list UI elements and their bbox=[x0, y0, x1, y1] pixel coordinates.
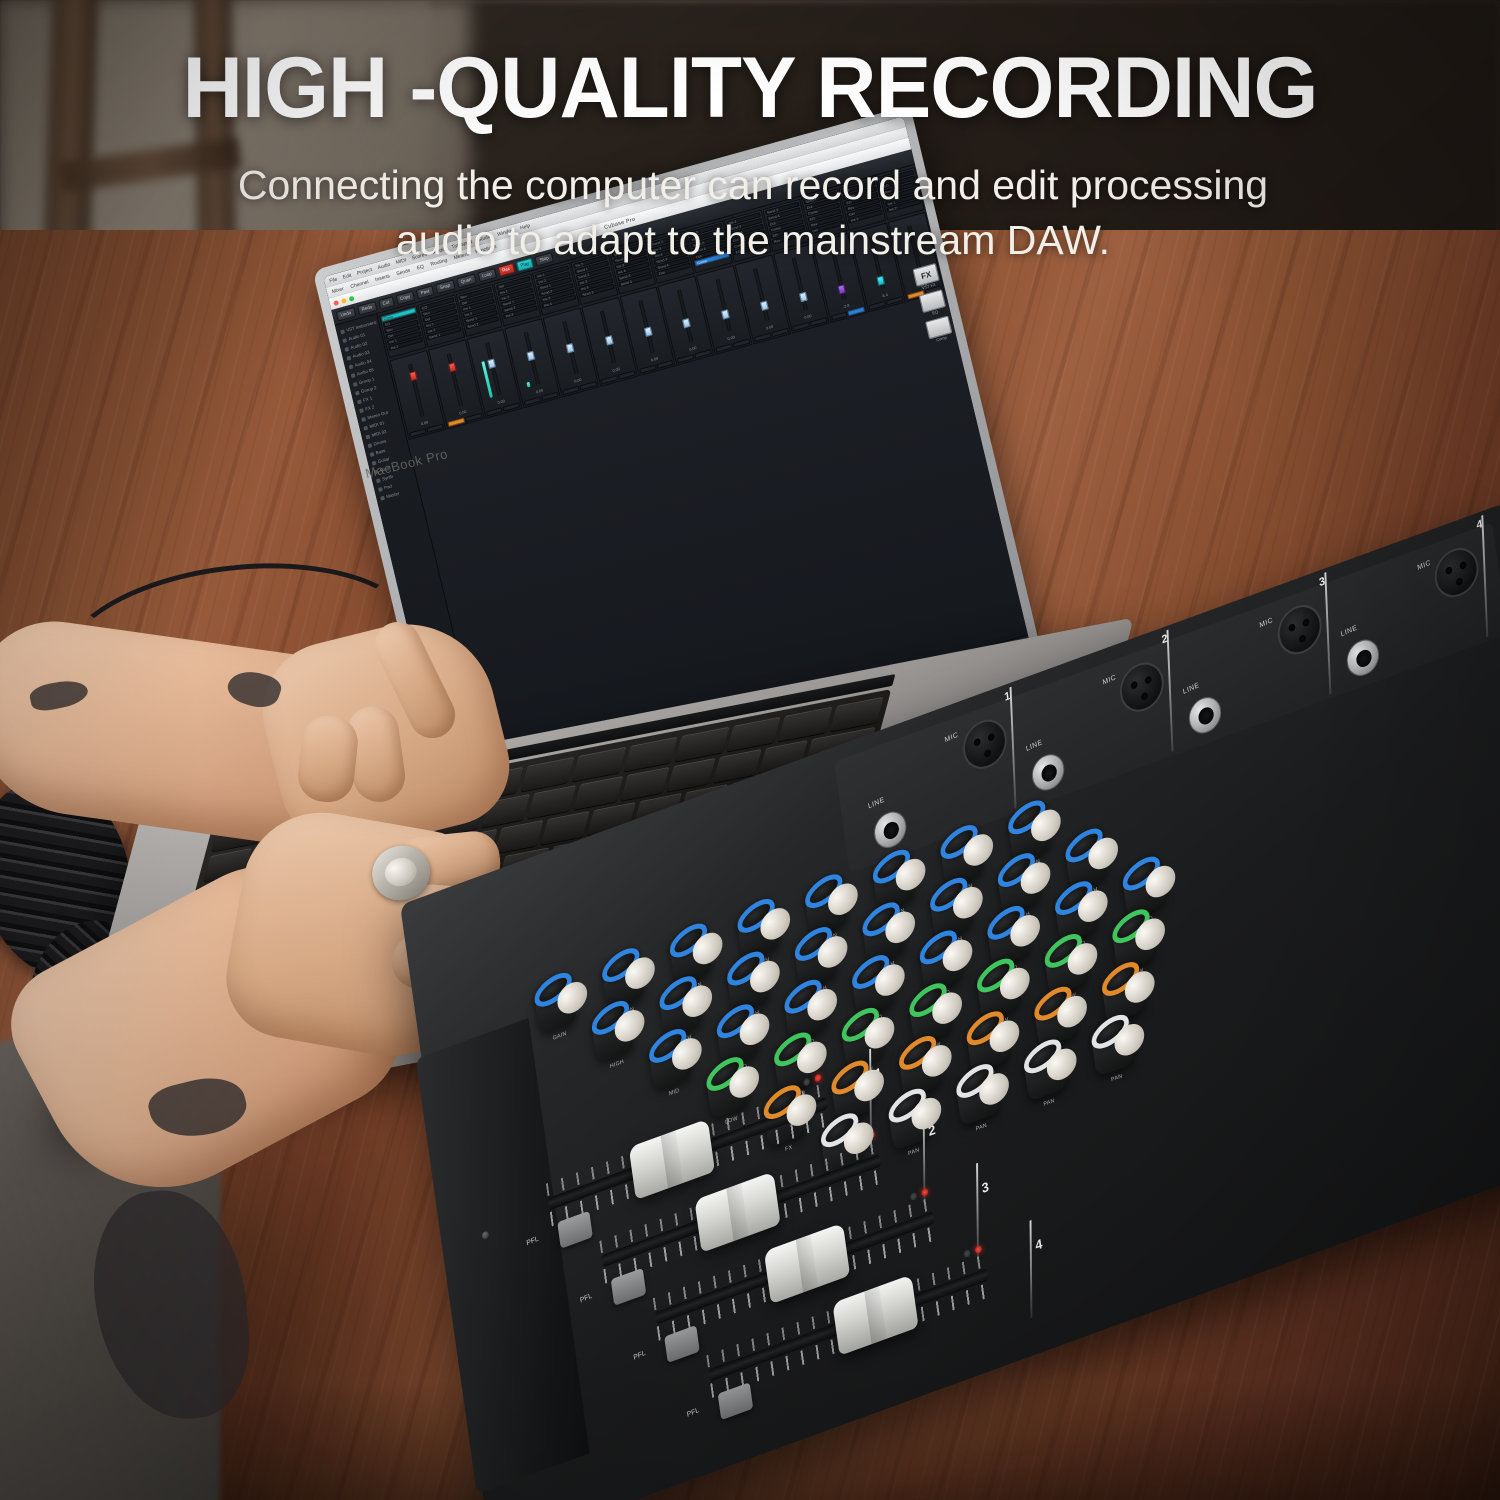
mute-button[interactable] bbox=[601, 375, 618, 384]
product-hero-scene: FileEditProjectAudioMIDIScoresMediaTrans… bbox=[0, 0, 1500, 1500]
solo-button[interactable] bbox=[695, 349, 712, 358]
line-label: LINE bbox=[1025, 739, 1043, 753]
mic-label: MIC bbox=[1417, 559, 1432, 572]
fader-handle[interactable] bbox=[605, 335, 614, 346]
subtitle-container: Connecting the computer can record and e… bbox=[124, 158, 1382, 269]
pfl-label: PFL bbox=[633, 1350, 646, 1362]
track-color-chip bbox=[355, 390, 360, 395]
mute-button[interactable] bbox=[792, 322, 809, 331]
line-label: LINE bbox=[1182, 682, 1200, 696]
fader-handle[interactable] bbox=[643, 326, 652, 337]
fader-handle[interactable] bbox=[409, 371, 418, 382]
mute-button[interactable] bbox=[639, 364, 656, 373]
solo-button[interactable] bbox=[541, 392, 558, 401]
fader-handle[interactable] bbox=[527, 350, 536, 361]
mute-button[interactable] bbox=[754, 333, 771, 342]
subtitle-line-1: Connecting the computer can record and e… bbox=[238, 162, 1268, 208]
peak-led bbox=[921, 1188, 929, 1197]
track-name: Pad bbox=[384, 483, 393, 490]
menu-item-edit[interactable]: Edit bbox=[342, 272, 352, 280]
line-label: LINE bbox=[868, 796, 886, 810]
solo-button[interactable] bbox=[618, 370, 635, 379]
solo-button[interactable] bbox=[426, 424, 443, 433]
toolbar-cut-button[interactable]: Cut bbox=[378, 296, 395, 310]
signal-led bbox=[910, 1192, 918, 1201]
fader-handle[interactable] bbox=[566, 343, 575, 354]
signal-led bbox=[803, 1077, 811, 1086]
fader-track[interactable] bbox=[715, 278, 731, 332]
solo-button[interactable] bbox=[465, 413, 482, 422]
mixer-channel-number: 3 bbox=[981, 1179, 990, 1197]
close-icon[interactable] bbox=[333, 299, 339, 305]
toolbar-quantize-button[interactable]: Quan bbox=[456, 273, 477, 288]
toolbar-loop-button[interactable]: Loop bbox=[477, 267, 497, 282]
fader-handle[interactable] bbox=[876, 275, 885, 286]
track-color-chip bbox=[346, 355, 351, 360]
mute-button[interactable] bbox=[447, 418, 464, 427]
peak-led bbox=[975, 1245, 983, 1254]
track-color-chip bbox=[344, 346, 349, 351]
track-color-chip bbox=[342, 338, 347, 343]
pfl-label: PFL bbox=[579, 1292, 592, 1304]
menu-item-file[interactable]: File bbox=[329, 276, 338, 284]
track-color-chip bbox=[351, 373, 356, 378]
fader-handle[interactable] bbox=[488, 358, 497, 369]
fader-track[interactable] bbox=[753, 268, 769, 322]
toolbar-snap-button[interactable]: Snap bbox=[435, 279, 455, 294]
fx-palette-item[interactable]: EQ bbox=[919, 289, 947, 318]
solo-button[interactable] bbox=[733, 338, 750, 347]
pfl-label: PFL bbox=[686, 1407, 699, 1419]
solo-button[interactable] bbox=[886, 296, 903, 305]
mute-button[interactable] bbox=[677, 354, 694, 363]
track-color-chip bbox=[378, 487, 383, 492]
page-title: HIGH -QUALITY RECORDING bbox=[23, 46, 1478, 130]
solo-button[interactable] bbox=[503, 402, 520, 411]
minimize-icon[interactable] bbox=[341, 297, 347, 303]
signal-led bbox=[963, 1249, 971, 1258]
track-color-chip bbox=[367, 443, 372, 448]
fader-handle[interactable] bbox=[760, 301, 769, 312]
headline-container: HIGH -QUALITY RECORDING bbox=[0, 46, 1500, 130]
pfl-label: PFL bbox=[526, 1235, 539, 1247]
xlr-mic-jack[interactable] bbox=[1117, 656, 1167, 718]
track-color-chip bbox=[349, 364, 354, 369]
fader-handle[interactable] bbox=[799, 292, 808, 303]
toolbar-copy-button[interactable]: Copy bbox=[395, 290, 415, 305]
track-color-chip bbox=[363, 425, 368, 430]
track-color-chip bbox=[370, 451, 375, 456]
toolbar-paste-button[interactable]: Past bbox=[416, 285, 435, 299]
toolbar-redo-button[interactable]: Redo bbox=[357, 301, 377, 316]
xlr-mic-jack[interactable] bbox=[1432, 541, 1482, 603]
fader-track[interactable] bbox=[677, 289, 693, 343]
mute-button[interactable] bbox=[562, 386, 579, 395]
solo-button[interactable] bbox=[580, 381, 597, 390]
solo-button[interactable] bbox=[656, 360, 673, 369]
mic-label: MIC bbox=[1259, 617, 1274, 630]
track-color-chip bbox=[380, 495, 385, 500]
solo-button[interactable] bbox=[810, 317, 827, 326]
mic-label: MIC bbox=[944, 731, 959, 744]
track-color-chip bbox=[361, 416, 366, 421]
mute-button[interactable] bbox=[716, 343, 733, 352]
mic-label: MIC bbox=[1102, 674, 1117, 687]
mute-button[interactable] bbox=[869, 301, 886, 310]
peak-led bbox=[814, 1073, 822, 1082]
track-color-chip bbox=[353, 381, 358, 386]
mute-button[interactable] bbox=[524, 396, 541, 405]
maximize-icon[interactable] bbox=[349, 295, 355, 301]
channel-divider bbox=[1324, 572, 1331, 694]
subtitle-line-2: audio to adapt to the mainstream DAW. bbox=[124, 213, 1382, 268]
solo-button[interactable] bbox=[848, 307, 865, 316]
toolbar-undo-button[interactable]: Undo bbox=[336, 306, 356, 321]
fader-handle[interactable] bbox=[448, 363, 457, 374]
level-meter bbox=[527, 382, 531, 387]
line-label: LINE bbox=[1340, 624, 1358, 638]
mute-button[interactable] bbox=[486, 407, 503, 416]
track-color-chip bbox=[340, 329, 345, 334]
xlr-mic-jack[interactable] bbox=[1274, 599, 1324, 661]
chair-leg bbox=[43, 0, 98, 261]
fader-handle[interactable] bbox=[838, 284, 847, 295]
track-name: Master bbox=[386, 491, 400, 499]
xlr-mic-jack[interactable] bbox=[960, 713, 1010, 775]
channel-divider bbox=[1167, 630, 1174, 752]
solo-button[interactable] bbox=[771, 328, 788, 337]
track-color-chip bbox=[357, 399, 362, 404]
track-color-chip bbox=[359, 408, 364, 413]
channel-divider bbox=[1009, 687, 1016, 809]
mute-button[interactable] bbox=[409, 428, 426, 437]
track-color-chip bbox=[365, 434, 370, 439]
mute-button[interactable] bbox=[831, 311, 848, 320]
fader-track[interactable] bbox=[447, 353, 463, 407]
